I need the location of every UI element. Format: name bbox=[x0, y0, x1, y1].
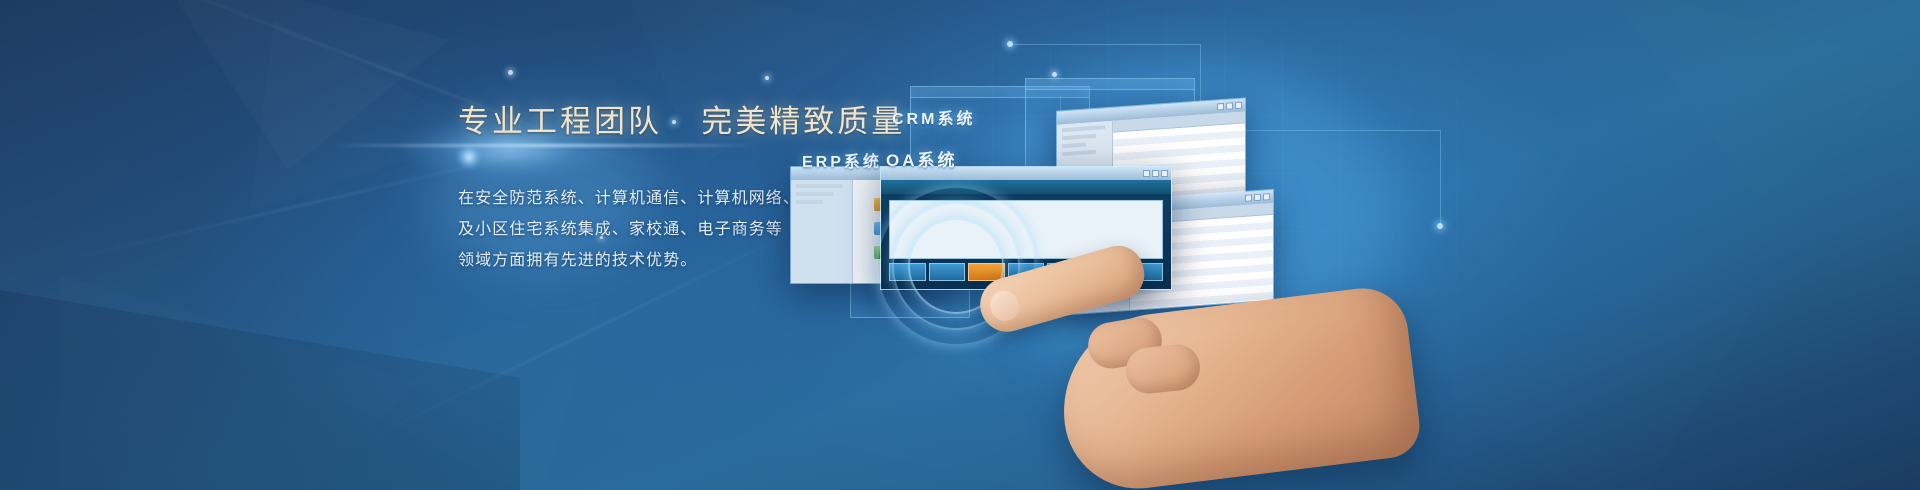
foreground-shadow-wash bbox=[0, 240, 520, 490]
hero-banner: 专业工程团队 完美精致质量 在安全防范系统、计算机通信、计算机网络、智能大厦 及… bbox=[0, 0, 1920, 490]
close-icon[interactable] bbox=[1263, 193, 1270, 200]
crm-window-label: CRM系统 bbox=[892, 105, 975, 129]
sidebar-row bbox=[1062, 134, 1096, 140]
close-icon[interactable] bbox=[1161, 170, 1168, 177]
hand-pointing-illustration bbox=[970, 228, 1430, 490]
erp-window-label: ERP系统 bbox=[802, 148, 882, 172]
sidebar-row bbox=[796, 184, 843, 188]
maximize-icon[interactable] bbox=[1226, 102, 1233, 109]
minimize-icon[interactable] bbox=[1143, 170, 1150, 177]
circuit-node bbox=[1437, 223, 1443, 229]
wireframe-titlebar bbox=[1026, 79, 1194, 90]
palm bbox=[1053, 283, 1423, 490]
app-screens-collage: CRM系统 bbox=[760, 0, 1920, 490]
window-sidebar bbox=[791, 180, 853, 283]
oa-window-label: OA系统 bbox=[886, 146, 958, 171]
sidebar-row bbox=[1062, 143, 1086, 149]
maximize-icon[interactable] bbox=[1254, 194, 1261, 201]
sidebar-row bbox=[796, 200, 823, 204]
close-icon[interactable] bbox=[1235, 102, 1242, 109]
maximize-icon[interactable] bbox=[1152, 170, 1159, 177]
circuit-trace bbox=[1230, 130, 1440, 131]
sidebar-row bbox=[1062, 150, 1096, 156]
minimize-icon[interactable] bbox=[1217, 103, 1224, 110]
headline-part-1: 专业工程团队 bbox=[458, 104, 662, 139]
sparkle-dot bbox=[508, 70, 513, 75]
circuit-node bbox=[1007, 41, 1013, 47]
sidebar-row bbox=[1062, 125, 1105, 132]
fingernail bbox=[987, 287, 1022, 324]
minimize-icon[interactable] bbox=[1245, 194, 1252, 201]
circuit-trace bbox=[1440, 130, 1441, 226]
circuit-trace bbox=[1010, 44, 1200, 45]
sidebar-row bbox=[796, 192, 834, 196]
